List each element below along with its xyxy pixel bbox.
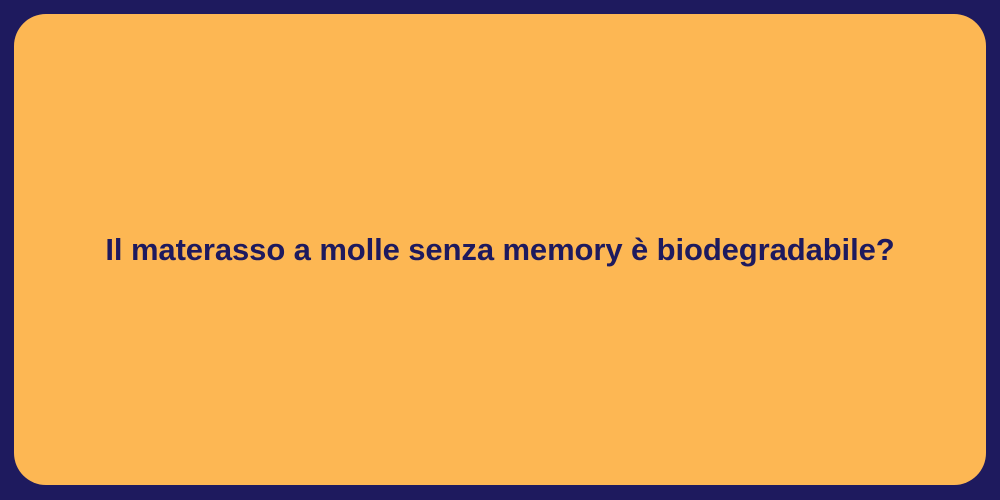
page-title: Il materasso a molle senza memory è biod…: [105, 230, 894, 270]
question-card: Il materasso a molle senza memory è biod…: [14, 14, 986, 485]
page-frame: Il materasso a molle senza memory è biod…: [0, 0, 1000, 500]
